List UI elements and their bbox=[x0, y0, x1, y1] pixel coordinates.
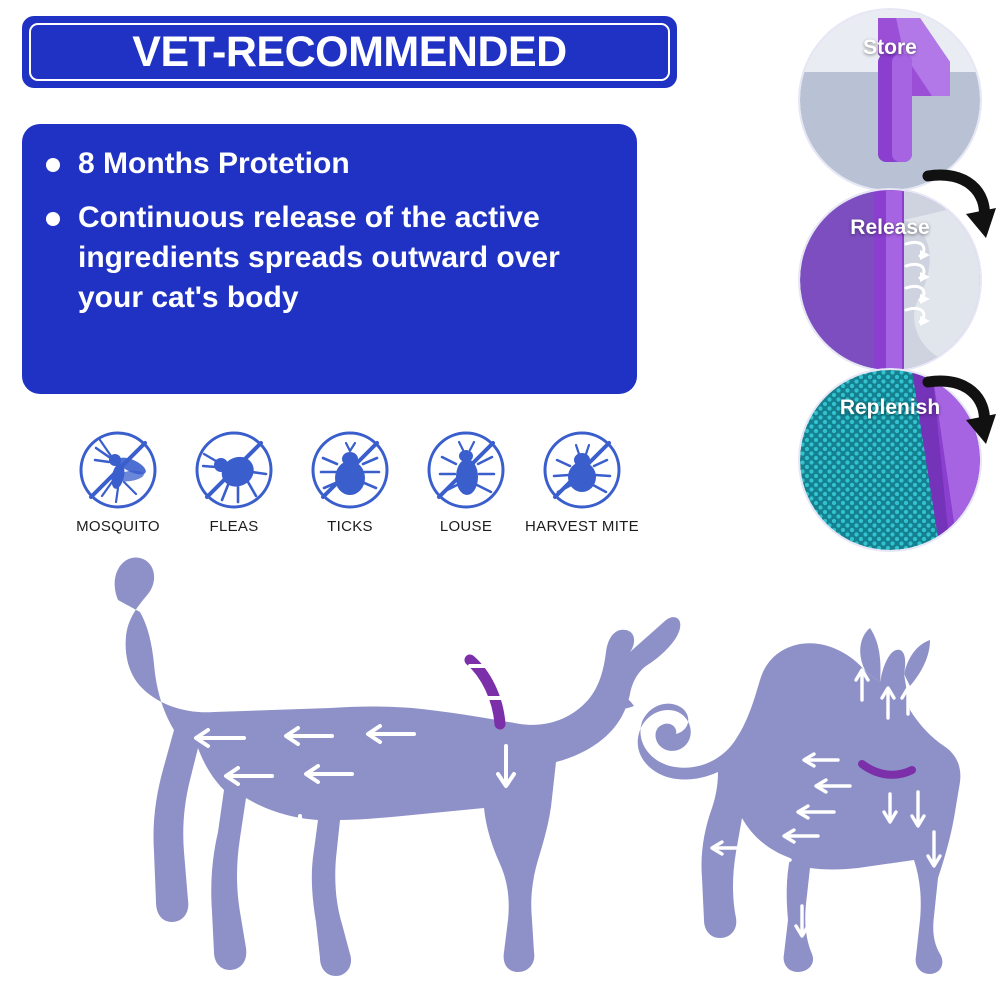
bullet-icon bbox=[46, 158, 60, 172]
flea-icon bbox=[194, 430, 274, 510]
dog-silhouette bbox=[94, 558, 680, 976]
mosquito-icon bbox=[78, 430, 158, 510]
louse-icon bbox=[426, 430, 506, 510]
benefit-item-1: Continuous release of the active ingredi… bbox=[46, 198, 613, 318]
tick-icon bbox=[310, 430, 390, 510]
harvest-mite-icon bbox=[542, 430, 622, 510]
dog-collar bbox=[470, 660, 500, 724]
benefit-text-1: Continuous release of the active ingredi… bbox=[78, 198, 613, 318]
step-card-store: Store bbox=[800, 10, 980, 190]
headline-banner: VET-RECOMMENDED bbox=[22, 16, 677, 88]
pest-label-mosquito: MOSQUITO bbox=[60, 518, 176, 535]
pest-label-harvest-mite: HARVEST MITE bbox=[524, 518, 640, 535]
pest-label-fleas: FLEAS bbox=[176, 518, 292, 535]
pest-item-fleas: FLEAS bbox=[176, 430, 292, 535]
pest-item-louse: LOUSE bbox=[408, 430, 524, 535]
step-label-store: Store bbox=[800, 36, 980, 60]
animal-illustrations bbox=[0, 548, 1000, 1000]
arrow-down-icon bbox=[922, 166, 996, 240]
pest-icon-row: MOSQUITO FLEAS bbox=[60, 430, 690, 535]
bullet-icon bbox=[46, 212, 60, 226]
page-title: VET-RECOMMENDED bbox=[132, 28, 566, 77]
benefits-box: 8 Months Protetion Continuous release of… bbox=[22, 124, 637, 394]
pest-item-mosquito: MOSQUITO bbox=[60, 430, 176, 535]
pest-item-ticks: TICKS bbox=[292, 430, 408, 535]
benefit-text-0: 8 Months Protetion bbox=[78, 144, 613, 184]
arrow-down-icon bbox=[922, 372, 996, 446]
usage-steps: Store bbox=[800, 10, 980, 550]
pest-item-harvest-mite: HARVEST MITE bbox=[524, 430, 640, 535]
pest-label-louse: LOUSE bbox=[408, 518, 524, 535]
cat-silhouette bbox=[638, 628, 961, 974]
benefit-item-0: 8 Months Protetion bbox=[46, 144, 613, 184]
pest-label-ticks: TICKS bbox=[292, 518, 408, 535]
